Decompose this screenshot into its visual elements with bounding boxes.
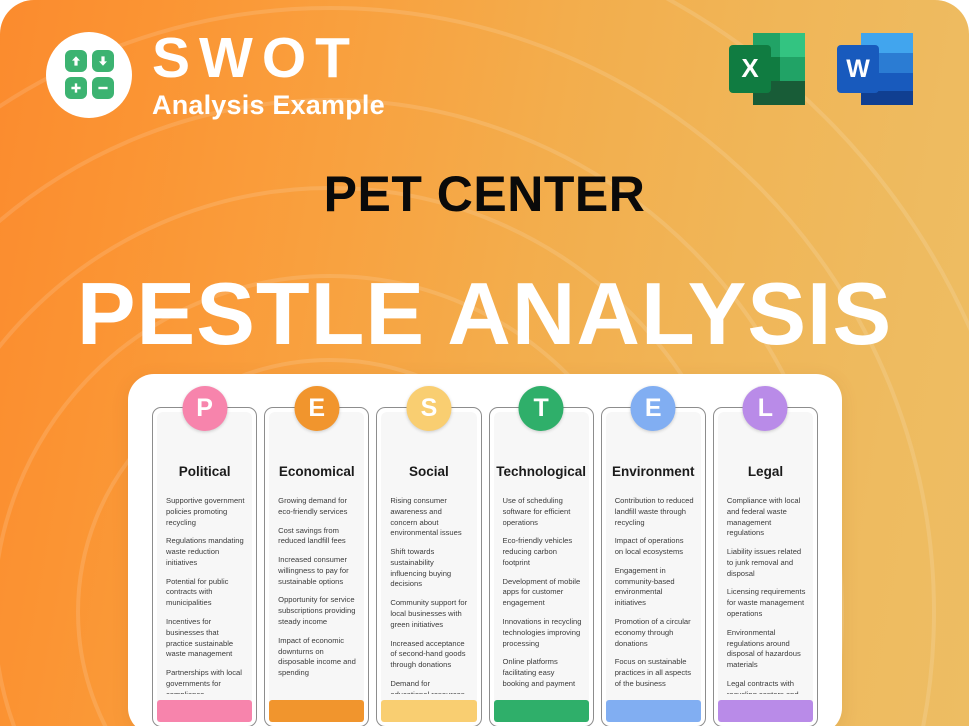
pestle-item: Eco-friendly vehicles reducing carbon fo… <box>503 536 582 568</box>
word-icon[interactable]: W <box>833 29 917 109</box>
pestle-item: Licensing requirements for waste managem… <box>727 587 806 619</box>
pestle-item: Cost savings from reduced landfill fees <box>278 526 357 548</box>
swot-logo-badge <box>46 32 132 118</box>
pestle-item: Innovations in recycling technologies im… <box>503 617 582 649</box>
pestle-letter-badge: E <box>631 386 676 431</box>
pestle-poster: SWOT Analysis Example X W <box>0 0 969 726</box>
pestle-item: Partnerships with local governments for … <box>166 668 245 694</box>
pestle-column[interactable]: SocialRising consumer awareness and conc… <box>376 407 481 726</box>
pestle-column-heading: Economical <box>269 464 364 479</box>
pestle-item-list: Rising consumer awareness and concern ab… <box>390 496 469 694</box>
pestle-column-color-bar <box>381 700 476 722</box>
pestle-item: Focus on sustainable practices in all as… <box>615 657 694 689</box>
pestle-item: Supportive government policies promoting… <box>166 496 245 528</box>
pestle-columns: PoliticalSupportive government policies … <box>152 407 818 726</box>
pestle-letter-badge: E <box>294 386 339 431</box>
pestle-column-heading: Technological <box>494 464 589 479</box>
pestle-item-list: Supportive government policies promoting… <box>166 496 245 694</box>
pestle-item: Environmental regulations around disposa… <box>727 628 806 671</box>
pestle-item: Potential for public contracts with muni… <box>166 577 245 609</box>
pestle-column-panel: EnvironmentContribution to reduced landf… <box>606 412 701 722</box>
pestle-item: Compliance with local and federal waste … <box>727 496 806 539</box>
pestle-column-heading: Legal <box>718 464 813 479</box>
pestle-item: Contribution to reduced landfill waste t… <box>615 496 694 528</box>
pestle-column-color-bar <box>157 700 252 722</box>
pestle-item-list: Contribution to reduced landfill waste t… <box>615 496 694 694</box>
pestle-column-panel: TechnologicalUse of scheduling software … <box>494 412 589 722</box>
svg-text:W: W <box>846 55 870 83</box>
pestle-item: Increased acceptance of second-hand good… <box>390 639 469 671</box>
subject-title: PET CENTER <box>0 169 969 219</box>
arrow-down-icon <box>92 50 114 72</box>
office-icons-group: X W <box>725 29 917 109</box>
pestle-item: Community support for local businesses w… <box>390 598 469 630</box>
pestle-letter-badge: L <box>743 386 788 431</box>
pestle-item: Increased consumer willingness to pay fo… <box>278 555 357 587</box>
pestle-item: Use of scheduling software for efficient… <box>503 496 582 528</box>
pestle-column[interactable]: TechnologicalUse of scheduling software … <box>489 407 594 726</box>
minus-icon <box>92 77 114 99</box>
pestle-column-panel: SocialRising consumer awareness and conc… <box>381 412 476 722</box>
pestle-column-panel: EconomicalGrowing demand for eco-friendl… <box>269 412 364 722</box>
pestle-item: Demand for educational resources on wast… <box>390 679 469 694</box>
pestle-item: Shift towards sustainability influencing… <box>390 547 469 590</box>
brand-title: SWOT <box>152 30 385 87</box>
pestle-item: Impact of economic downturns on disposab… <box>278 636 357 679</box>
brand-text-block: SWOT Analysis Example <box>152 30 385 119</box>
pestle-item: Rising consumer awareness and concern ab… <box>390 496 469 539</box>
pestle-column[interactable]: LegalCompliance with local and federal w… <box>713 407 818 726</box>
pestle-item: Opportunity for service subscriptions pr… <box>278 595 357 627</box>
pestle-column-color-bar <box>269 700 364 722</box>
pestle-column[interactable]: EconomicalGrowing demand for eco-friendl… <box>264 407 369 726</box>
pestle-letter-badge: P <box>182 386 227 431</box>
pestle-item: Liability issues related to junk removal… <box>727 547 806 579</box>
pestle-letter-badge: T <box>519 386 564 431</box>
pestle-item-list: Use of scheduling software for efficient… <box>503 496 582 694</box>
brand-header: SWOT Analysis Example <box>46 30 385 119</box>
pestle-item-list: Compliance with local and federal waste … <box>727 496 806 694</box>
pestle-item: Legal contracts with recycling centers a… <box>727 679 806 694</box>
excel-icon[interactable]: X <box>725 29 809 109</box>
pestle-column-panel: LegalCompliance with local and federal w… <box>718 412 813 722</box>
pestle-column-panel: PoliticalSupportive government policies … <box>157 412 252 722</box>
pestle-item: Regulations mandating waste reduction in… <box>166 536 245 568</box>
pestle-column-heading: Social <box>381 464 476 479</box>
pestle-column-heading: Environment <box>606 464 701 479</box>
svg-text:X: X <box>741 53 759 83</box>
pestle-column[interactable]: PoliticalSupportive government policies … <box>152 407 257 726</box>
plus-icon <box>65 77 87 99</box>
pestle-item: Incentives for businesses that practice … <box>166 617 245 660</box>
pestle-item: Development of mobile apps for customer … <box>503 577 582 609</box>
pestle-item: Engagement in community-based environmen… <box>615 566 694 609</box>
pestle-column-heading: Political <box>157 464 252 479</box>
swot-grid-icon <box>65 50 114 99</box>
brand-subtitle: Analysis Example <box>152 92 385 119</box>
pestle-item-list: Growing demand for eco-friendly services… <box>278 496 357 694</box>
pestle-item: Online platforms facilitating easy booki… <box>503 657 582 689</box>
pestle-item: Impact of operations on local ecosystems <box>615 536 694 558</box>
arrow-up-icon <box>65 50 87 72</box>
pestle-column-color-bar <box>718 700 813 722</box>
pestle-item: Growing demand for eco-friendly services <box>278 496 357 518</box>
main-title: PESTLE ANALYSIS <box>0 270 969 358</box>
pestle-column[interactable]: EnvironmentContribution to reduced landf… <box>601 407 706 726</box>
pestle-card: PoliticalSupportive government policies … <box>128 374 842 726</box>
pestle-item: Promotion of a circular economy through … <box>615 617 694 649</box>
pestle-column-color-bar <box>606 700 701 722</box>
pestle-letter-badge: S <box>406 386 451 431</box>
pestle-column-color-bar <box>494 700 589 722</box>
